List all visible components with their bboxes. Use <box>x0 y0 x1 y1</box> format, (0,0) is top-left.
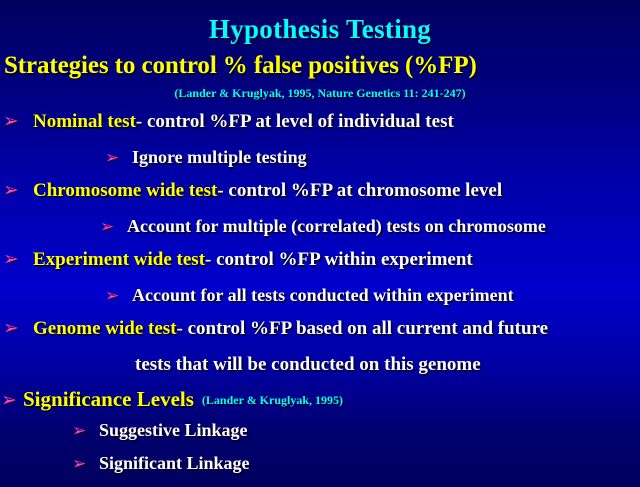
list-item-text: Suggestive Linkage <box>99 421 248 439</box>
list-item-text: Ignore multiple testing <box>132 148 307 166</box>
list-item: ➢Account for all tests conducted within … <box>0 286 640 319</box>
list-item: ➢Experiment wide test - control %FP with… <box>0 250 640 286</box>
list-item-text: - control %FP within experiment <box>205 250 473 269</box>
list-item: ➢Genome wide test - control %FP based on… <box>0 319 640 355</box>
arrow-bullet-icon: ➢ <box>3 181 33 200</box>
arrow-bullet-icon: ➢ <box>3 250 33 269</box>
arrow-bullet-icon: ➢ <box>72 423 99 440</box>
list-item-text: Significant Linkage <box>99 454 250 472</box>
list-item: ➢Ignore multiple testing <box>0 148 640 181</box>
arrow-bullet-icon: ➢ <box>72 456 99 473</box>
arrow-bullet-icon: ➢ <box>1 391 23 410</box>
slide-subtitle: Strategies to control % false positives … <box>4 52 640 80</box>
list-item-label: Significance Levels <box>23 389 194 410</box>
list-item-text: Account for multiple (correlated) tests … <box>127 217 546 235</box>
list-item-text: - control %FP at chromosome level <box>217 181 502 200</box>
slide-canvas: Hypothesis Testing Strategies to control… <box>0 0 640 480</box>
list-item: ➢Chromosome wide test - control %FP at c… <box>0 181 640 217</box>
arrow-bullet-icon: ➢ <box>3 112 33 131</box>
list-item-label: Genome wide test <box>33 319 177 338</box>
list-item-text: Account for all tests conducted within e… <box>132 286 514 304</box>
list-item-label: Nominal test <box>33 112 136 131</box>
page-title: Hypothesis Testing <box>0 14 640 45</box>
list-item: ➢Suggestive Linkage <box>0 421 640 454</box>
arrow-bullet-icon: ➢ <box>3 319 33 338</box>
list-item-label: Chromosome wide test <box>33 181 217 200</box>
list-item-label: Experiment wide test <box>33 250 205 269</box>
list-item-text: - control %FP at level of individual tes… <box>136 112 454 131</box>
list-item: ➢Significant Linkage <box>0 454 640 487</box>
list-item: ➢Nominal test - control %FP at level of … <box>0 112 640 148</box>
bullet-list: ➢Nominal test - control %FP at level of … <box>0 112 640 487</box>
arrow-bullet-icon: ➢ <box>100 219 127 236</box>
arrow-bullet-icon: ➢ <box>105 288 132 305</box>
inline-citation: (Lander & Kruglyak, 1995) <box>194 393 343 407</box>
list-item-continuation: tests that will be conducted on this gen… <box>0 355 640 389</box>
list-item: ➢Account for multiple (correlated) tests… <box>0 217 640 250</box>
reference-citation: (Lander & Kruglyak, 1995, Nature Genetic… <box>0 86 640 101</box>
list-item: ➢Significance Levels(Lander & Kruglyak, … <box>0 389 640 421</box>
arrow-bullet-icon: ➢ <box>105 150 132 167</box>
list-item-text: - control %FP based on all current and f… <box>177 319 549 338</box>
